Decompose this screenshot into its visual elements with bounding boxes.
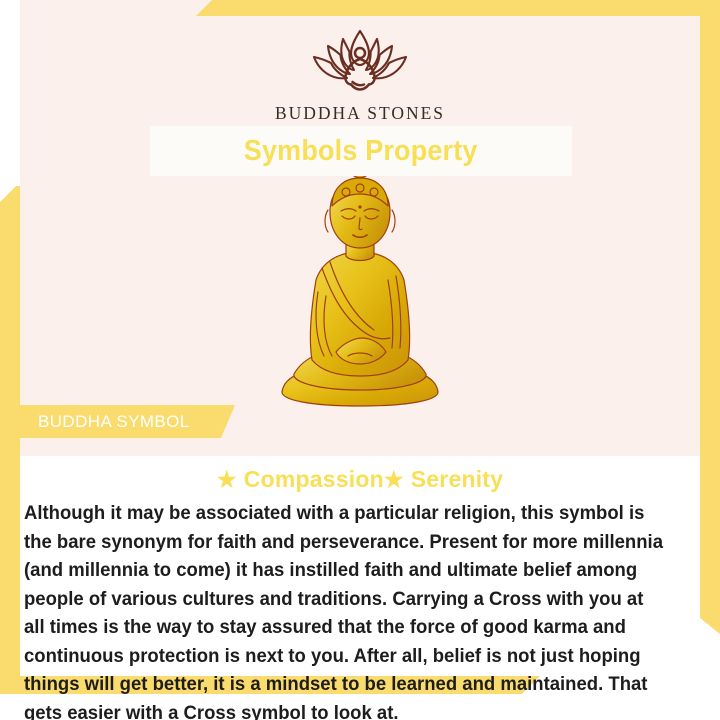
subheading: ★Compassion★Serenity — [20, 466, 700, 493]
poster-canvas: BUDDHA STONES Symbols Property — [0, 0, 720, 720]
page-title: Symbols Property — [244, 135, 478, 168]
decorative-left-bar — [0, 186, 20, 692]
subheading-item-two: Serenity — [411, 466, 503, 492]
subheading-item-one: Compassion — [244, 466, 384, 492]
brand-logo: BUDDHA STONES — [0, 24, 720, 124]
category-ribbon-label: BUDDHA SYMBOL — [38, 412, 190, 432]
category-ribbon: BUDDHA SYMBOL — [20, 405, 235, 438]
star-icon-one: ★ — [217, 467, 237, 492]
golden-buddha-statue-illustration — [260, 176, 460, 416]
body-paragraph: Although it may be associated with a par… — [24, 500, 669, 720]
star-icon-two: ★ — [384, 467, 404, 492]
lotus-meditation-icon — [301, 24, 419, 96]
title-banner: Symbols Property — [150, 126, 572, 176]
brand-name: BUDDHA STONES — [275, 103, 445, 124]
decorative-top-bar — [196, 0, 720, 16]
